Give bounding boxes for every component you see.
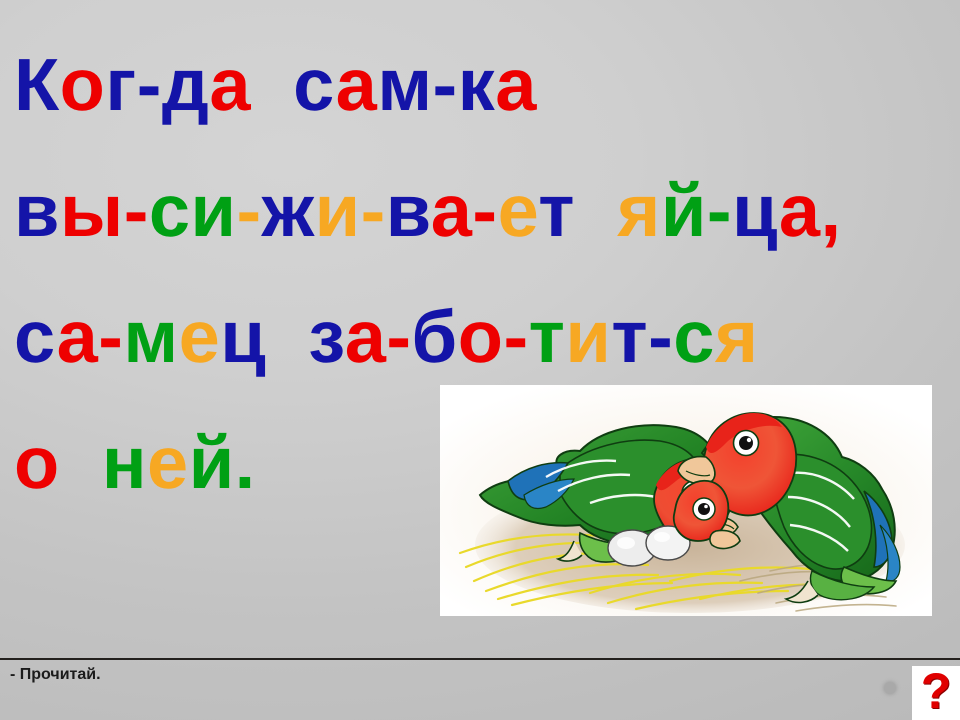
syllable-segment: о xyxy=(14,421,60,504)
syllable-segment: г-д xyxy=(105,43,209,126)
syllable-segment: з xyxy=(308,295,344,378)
syllable-segment: с xyxy=(14,295,57,378)
syllable-segment: б xyxy=(412,295,458,378)
text-line-2: вы-си-жи-ва-ет яй-ца, xyxy=(14,148,960,274)
syllable-segment: си xyxy=(149,169,237,252)
syllable-segment: а, xyxy=(779,169,842,252)
syllable-segment: с xyxy=(293,43,336,126)
syllable-segment: о xyxy=(60,43,106,126)
syllable-segment: и xyxy=(565,295,611,378)
syllable-segment: а- xyxy=(345,295,412,378)
syllable-segment: а xyxy=(209,43,251,126)
syllable-segment: й. xyxy=(189,421,256,504)
syllable-segment: а- xyxy=(57,295,124,378)
syllable-segment xyxy=(60,421,102,504)
text-line-1: Ког-да сам-ка xyxy=(14,22,960,148)
footer-divider xyxy=(0,658,960,660)
bullet-dot xyxy=(884,682,896,694)
syllable-segment xyxy=(251,43,293,126)
syllable-segment: т xyxy=(529,295,566,378)
help-question-mark-button[interactable]: ? xyxy=(912,666,960,720)
syllable-segment: е xyxy=(179,295,221,378)
syllable-segment: м-к xyxy=(377,43,495,126)
syllable-segment: е xyxy=(498,169,539,252)
syllable-segment: с xyxy=(673,295,715,378)
syllable-segment: а xyxy=(495,43,537,126)
syllable-segment: К xyxy=(14,43,60,126)
question-mark-icon: ? xyxy=(921,666,952,716)
syllable-segment: м xyxy=(123,295,178,378)
syllable-segment: н xyxy=(102,421,147,504)
syllable-segment: я xyxy=(617,169,661,252)
syllable-segment: ц xyxy=(732,169,779,252)
syllable-segment: в xyxy=(14,169,60,252)
syllable-segment: а xyxy=(336,43,378,126)
syllable-segment: ж xyxy=(262,169,315,252)
syllable-segment: ц xyxy=(220,295,266,378)
slide-canvas: Ког-да сам-ка вы-си-жи-ва-ет яй-ца, са-м… xyxy=(0,0,960,720)
syllable-segment: т- xyxy=(611,295,673,378)
lovebirds-svg xyxy=(440,385,932,616)
footer-instruction: - Прочитай. xyxy=(10,666,101,684)
syllable-segment: я xyxy=(715,295,759,378)
lovebirds-illustration xyxy=(440,385,932,616)
syllable-segment: в xyxy=(386,169,431,252)
syllable-segment: а- xyxy=(431,169,498,252)
syllable-segment: т xyxy=(538,169,575,252)
syllable-segment: е xyxy=(147,421,189,504)
syllable-segment xyxy=(575,169,617,252)
syllable-segment: - xyxy=(237,169,262,252)
text-line-3: са-мец за-бо-тит-ся xyxy=(14,274,960,400)
syllable-segment: й- xyxy=(661,169,732,252)
syllable-segment xyxy=(266,295,308,378)
syllable-segment: и- xyxy=(315,169,386,252)
syllable-segment: ы- xyxy=(60,169,149,252)
syllable-segment: о- xyxy=(458,295,529,378)
